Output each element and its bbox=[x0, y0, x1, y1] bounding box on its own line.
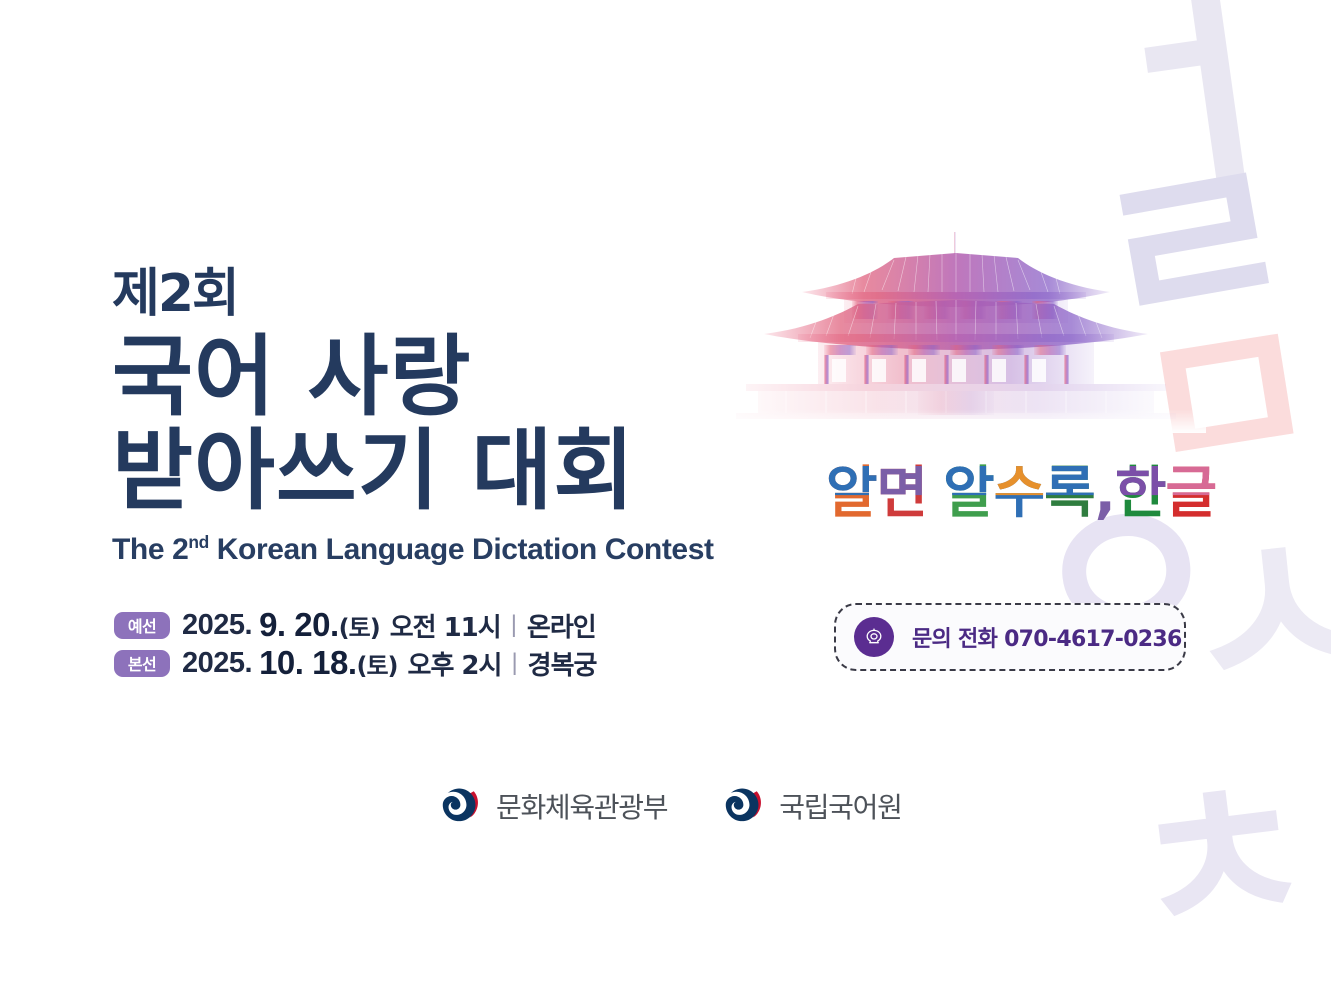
schedule-place-final: 경복궁 bbox=[528, 645, 597, 682]
schedule-separator: | bbox=[511, 649, 517, 677]
schedule-weekday-final: (토) bbox=[357, 646, 398, 681]
subtitle-prefix: The 2 bbox=[112, 533, 188, 566]
poster-canvas: ㅓ ㄹ ㅁ ㅇ ㅅ ㅊ bbox=[0, 0, 1331, 985]
schedule-row-final: 본선 2025. 10. 18. (토) 오후 2시 | 경복궁 bbox=[114, 644, 596, 682]
telephone-icon bbox=[854, 617, 894, 657]
slogan-glyph-top: 면 bbox=[877, 466, 928, 522]
schedule-weekday-preliminary: (토) bbox=[339, 608, 380, 643]
slogan-glyph-top: 알 bbox=[943, 466, 994, 522]
slogan-glyph: 글글 bbox=[1165, 466, 1216, 522]
logo-ministry-of-culture: 문화체육관광부 bbox=[436, 782, 667, 829]
schedule-date-preliminary: 9. 20. bbox=[259, 606, 339, 644]
slogan-glyph-top: 수 bbox=[994, 466, 1045, 522]
heading-block: 제2회 국어 사랑 받아쓰기 대회 The 2nd Korean Languag… bbox=[112, 268, 712, 567]
schedule-time-final: 오후 2시 bbox=[408, 645, 502, 682]
slogan-glyph: 록록 bbox=[1044, 466, 1095, 522]
slogan-glyph: 수수 bbox=[994, 466, 1045, 522]
slogan-space bbox=[927, 466, 943, 522]
korea-government-emblem-icon bbox=[719, 782, 766, 829]
schedule-year-final: 2025. bbox=[182, 647, 252, 680]
contact-box[interactable]: 문의 전화 070-4617-0236 bbox=[834, 603, 1186, 671]
schedule-place-preliminary: 온라인 bbox=[527, 607, 596, 644]
slogan-glyph-top: 글 bbox=[1165, 466, 1216, 522]
title-line-1: 국어 사랑 bbox=[112, 330, 712, 424]
schedule-row-preliminary: 예선 2025. 9. 20. (토) 오전 11시 | 온라인 bbox=[114, 606, 596, 644]
subtitle-rest: Korean Language Dictation Contest bbox=[209, 533, 714, 566]
schedule-separator: | bbox=[511, 611, 517, 639]
slogan-text: 알알면면 알알수수록록,,한한글글 bbox=[826, 466, 1216, 522]
schedule-block: 예선 2025. 9. 20. (토) 오전 11시 | 온라인 본선 2025… bbox=[114, 606, 596, 682]
slogan-glyph-top: 알 bbox=[826, 466, 877, 522]
footer-logos: 문화체육관광부 국립국어원 bbox=[436, 782, 902, 829]
subtitle-ordinal-suffix: nd bbox=[188, 532, 208, 552]
logo-label-national-institute: 국립국어원 bbox=[779, 786, 901, 826]
slogan-glyph: ,, bbox=[1095, 466, 1115, 522]
watermark-hangul-chieut: ㅊ bbox=[1118, 750, 1325, 971]
slogan-glyph: 알알 bbox=[826, 466, 877, 522]
slogan-glyph: 면면 bbox=[877, 466, 928, 522]
slogan-glyph-top: 록 bbox=[1044, 466, 1095, 522]
slogan-glyph-top: 한 bbox=[1115, 466, 1166, 522]
schedule-badge-preliminary: 예선 bbox=[114, 612, 170, 639]
watermark-hangul-siot: ㅅ bbox=[1169, 495, 1331, 729]
palace-illustration bbox=[706, 228, 1206, 433]
title-line-2: 받아쓰기 대회 bbox=[112, 424, 712, 518]
schedule-badge-final: 본선 bbox=[114, 650, 170, 677]
slogan-glyph-top: , bbox=[1095, 466, 1115, 522]
logo-national-institute-korean-language: 국립국어원 bbox=[719, 782, 901, 829]
english-subtitle: The 2nd Korean Language Dictation Contes… bbox=[112, 532, 712, 567]
logo-label-ministry-of-culture: 문화체육관광부 bbox=[496, 786, 667, 826]
slogan-glyph: 알알 bbox=[943, 466, 994, 522]
watermark-hangul-eo: ㅓ bbox=[1062, 0, 1325, 213]
edition-label: 제2회 bbox=[112, 268, 712, 320]
korea-government-emblem-icon bbox=[436, 782, 483, 829]
schedule-year-preliminary: 2025. bbox=[182, 609, 252, 642]
schedule-date-final: 10. 18. bbox=[259, 644, 356, 682]
schedule-time-preliminary: 오전 11시 bbox=[390, 607, 501, 644]
slogan-glyph: 한한 bbox=[1115, 466, 1166, 522]
contact-phone-label: 문의 전화 070-4617-0236 bbox=[912, 621, 1182, 653]
